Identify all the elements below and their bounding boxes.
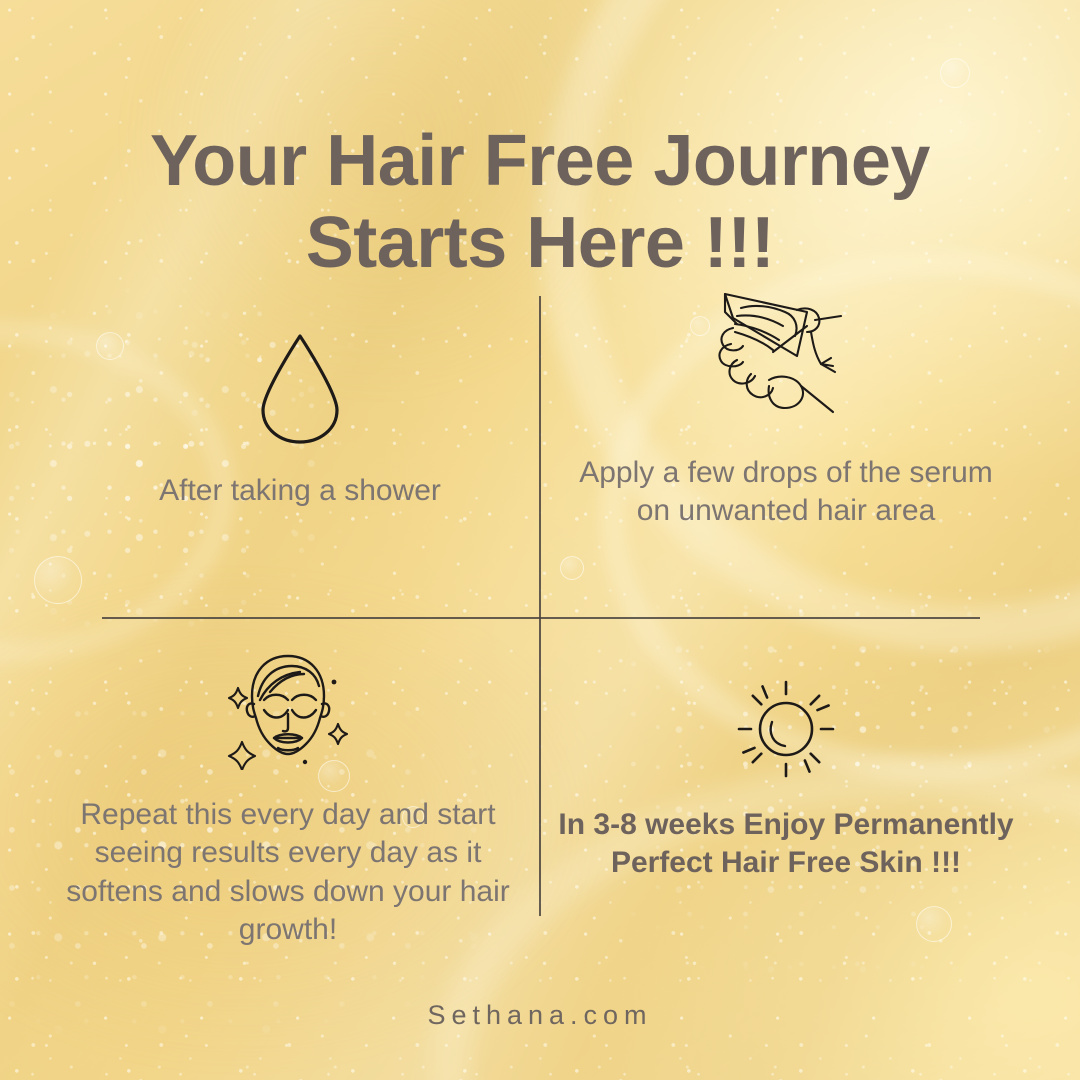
step-caption-line-2: on unwanted hair area	[637, 494, 936, 527]
grid-divider-vertical	[539, 296, 541, 916]
step-caption-line-2: seeing results every day as it	[95, 836, 482, 869]
step-item-apply-serum: Apply a few drops of the serum on unwant…	[556, 298, 1016, 531]
step-caption-line-2: Perfect Hair Free Skin !!!	[611, 846, 961, 879]
step-caption-line-1: Apply a few drops of the serum	[579, 456, 993, 489]
step-caption-line-1: Repeat this every day and start	[80, 798, 495, 831]
step-icon-wrapper	[556, 650, 1016, 780]
steps-grid: After taking a shower	[0, 290, 1080, 930]
step-caption: After taking a shower	[70, 472, 530, 510]
grid-divider-horizontal	[102, 617, 980, 619]
step-caption: Repeat this every day and start seeing r…	[58, 796, 518, 950]
step-icon-wrapper	[70, 316, 530, 446]
step-item-shower: After taking a shower	[70, 316, 530, 510]
step-icon-wrapper	[58, 640, 518, 770]
step-item-repeat-daily: Repeat this every day and start seeing r…	[58, 640, 518, 950]
step-caption-line-1: In 3-8 weeks Enjoy Permanently	[558, 808, 1013, 841]
step-item-results: In 3-8 weeks Enjoy Permanently Perfect H…	[556, 650, 1016, 883]
step-caption-line-3: softens and slows down your hair	[66, 875, 510, 908]
poster-canvas: Your Hair Free Journey Starts Here !!! A…	[0, 0, 1080, 1080]
page-title: Your Hair Free Journey Starts Here !!!	[0, 120, 1080, 284]
large-bubble	[940, 58, 970, 88]
hands-applying-serum-icon	[711, 282, 861, 428]
step-caption-text: After taking a shower	[159, 474, 441, 507]
step-caption: Apply a few drops of the serum on unwant…	[556, 454, 1016, 531]
page-title-line-2: Starts Here !!!	[40, 202, 1040, 284]
step-caption: In 3-8 weeks Enjoy Permanently Perfect H…	[556, 806, 1016, 883]
footer-website[interactable]: Sethana.com	[0, 1000, 1080, 1031]
water-droplet-icon	[257, 330, 343, 446]
page-title-line-1: Your Hair Free Journey	[40, 120, 1040, 202]
step-caption-line-4: growth!	[239, 913, 337, 946]
step-icon-wrapper	[556, 298, 1016, 428]
sun-icon	[735, 678, 837, 780]
glowing-face-icon	[226, 648, 350, 770]
